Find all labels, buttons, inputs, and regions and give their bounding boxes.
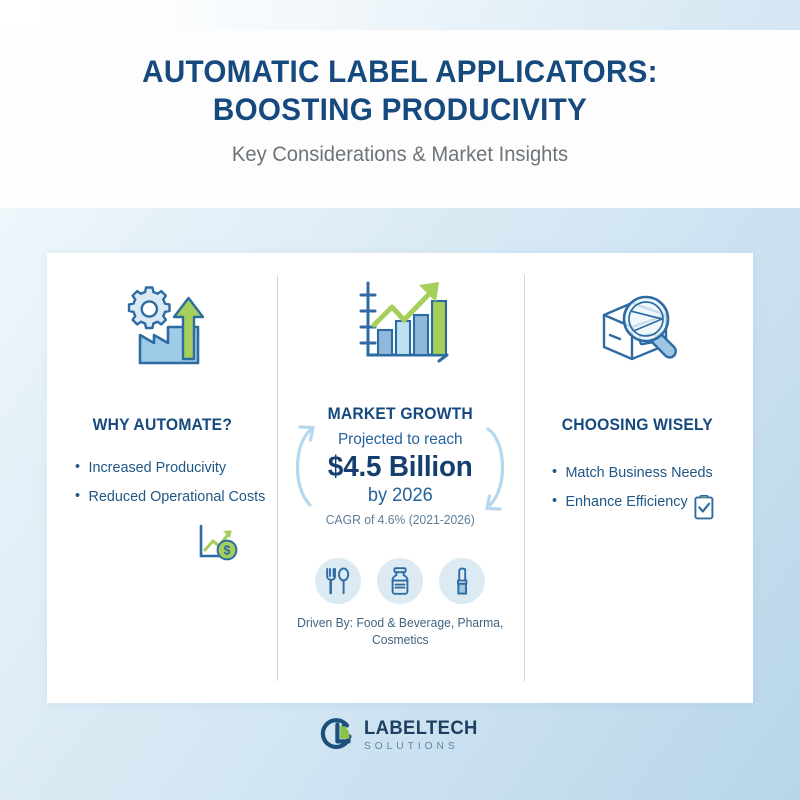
list-item: Match Business Needs: [552, 458, 745, 487]
column-why-automate: WHY AUTOMATE? Increased Producivity Redu…: [47, 253, 278, 703]
bar-chart-trend-icon: [278, 275, 523, 371]
clipboard-check-icon: [693, 494, 715, 520]
heading-market-growth: MARKET GROWTH: [284, 405, 516, 424]
box-magnifier-icon: [522, 279, 753, 371]
logo-tagline: SOLUTIONS: [364, 741, 478, 752]
logo-wordmark: LABELTECH SOLUTIONS: [364, 719, 481, 752]
market-growth-figures: Projected to reach $4.5 Billion by 2026 …: [278, 429, 523, 529]
page-subtitle: Key Considerations & Market Insights: [16, 142, 784, 168]
top-gradient-strip: [0, 0, 800, 30]
labeltech-circular-leaf-mark: [319, 716, 357, 754]
page-title-line-2: BOOSTING PRODUCIVITY: [24, 90, 776, 128]
svg-text:$: $: [224, 543, 231, 557]
growth-chart-dollar-icon: $: [195, 521, 241, 565]
driven-by-icons: [278, 558, 523, 604]
logo-name: LABELTECH: [364, 719, 478, 738]
column-choosing-wisely: CHOOSING WISELY Match Business Needs Enh…: [522, 253, 753, 703]
columns-container: WHY AUTOMATE? Increased Producivity Redu…: [47, 253, 753, 703]
driven-by-caption: Driven By: Food & Beverage, Pharma, Cosm…: [291, 615, 509, 649]
gear-factory-growth-icon: [47, 279, 278, 371]
column-market-growth: MARKET GROWTH Projected to reach: [278, 253, 523, 703]
page-title-line-1: AUTOMATIC LABEL APPLICATORS:: [24, 52, 776, 90]
list-item: Reduced Operational Costs: [75, 482, 270, 511]
bullet-list-choosing-wisely: Match Business Needs Enhance Efficiency: [522, 458, 753, 516]
market-value-year: by 2026: [283, 484, 518, 508]
heading-why-automate: WHY AUTOMATE?: [53, 416, 272, 435]
footer-logo: LABELTECH SOLUTIONS: [0, 716, 800, 754]
heading-choosing-wisely: CHOOSING WISELY: [528, 416, 747, 435]
bullet-list-why-automate: Increased Producivity Reduced Operationa…: [47, 453, 278, 511]
list-item: Enhance Efficiency: [552, 487, 745, 516]
market-value-amount: $4.5 Billion: [283, 450, 518, 484]
lipstick-icon: [439, 558, 485, 604]
list-item: Increased Producivity: [75, 453, 270, 482]
header: AUTOMATIC LABEL APPLICATORS: BOOSTING PR…: [0, 52, 800, 168]
projected-label: Projected to reach: [283, 429, 518, 450]
content-card: WHY AUTOMATE? Increased Producivity Redu…: [47, 253, 753, 703]
pharma-vial-icon: [377, 558, 423, 604]
fork-spoon-icon: [315, 558, 361, 604]
infographic-canvas: AUTOMATIC LABEL APPLICATORS: BOOSTING PR…: [0, 0, 800, 800]
cagr-note: CAGR of 4.6% (2021-2026): [281, 512, 518, 529]
